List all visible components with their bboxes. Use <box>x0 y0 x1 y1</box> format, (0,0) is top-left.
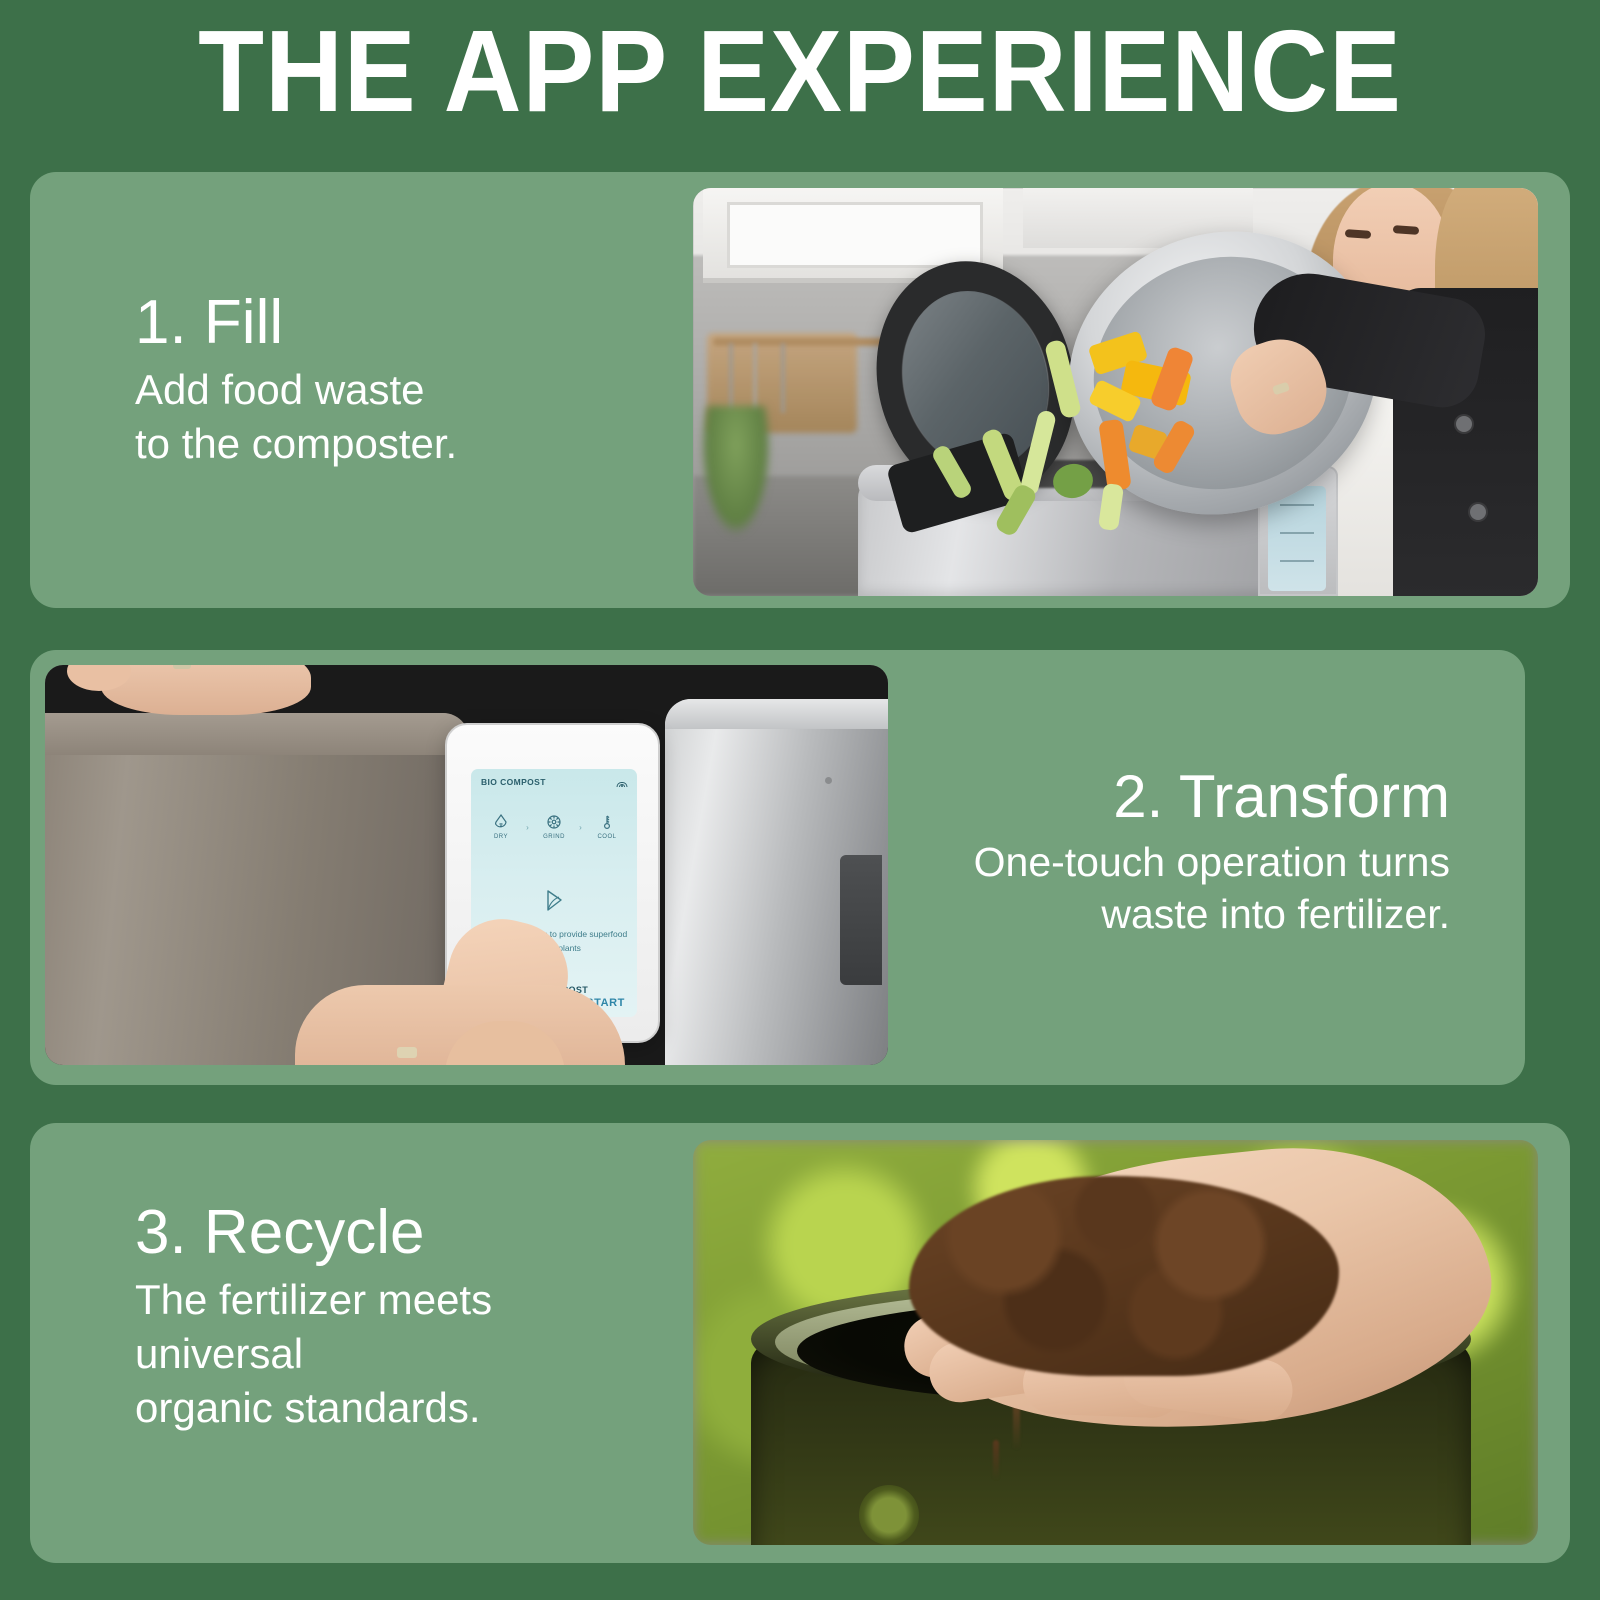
screen-line <box>1280 532 1314 534</box>
step-arrow: › <box>579 813 582 832</box>
screen-line <box>1280 560 1314 562</box>
step-text-recycle: 3. Recycle The fertilizer meets universa… <box>135 1200 665 1434</box>
step-text-transform: 2. Transform One-touch operation turns w… <box>870 765 1450 941</box>
cycle-step-grind[interactable]: GRIND <box>532 813 576 840</box>
woman-eye-right <box>1393 225 1419 235</box>
woman-eye-left <box>1345 229 1371 239</box>
composter-vent <box>840 855 882 985</box>
composter-screw <box>825 777 832 784</box>
page-title: THE APP EXPERIENCE <box>56 8 1544 136</box>
cycle-step-label-dry: DRY <box>479 834 523 840</box>
step-text-fill: 1. Fill Add food waste to the composter. <box>135 290 655 471</box>
infographic-page: THE APP EXPERIENCE 1. Fill Add food wast… <box>0 0 1600 1600</box>
cycle-step-cool[interactable]: COOL <box>585 813 629 840</box>
compost-soil <box>909 1176 1339 1376</box>
step-description-fill: Add food waste to the composter. <box>135 363 655 471</box>
dry-drop-icon <box>491 813 511 831</box>
step-photo-recycle <box>693 1140 1538 1545</box>
hanging-utensils <box>723 343 873 413</box>
cool-thermometer-icon <box>597 813 617 831</box>
step-title-transform: 2. Transform <box>870 765 1450 828</box>
wifi-icon <box>616 778 627 787</box>
leaf-play-icon <box>471 887 637 920</box>
lower-hand <box>295 985 625 1065</box>
step-description-recycle: The fertilizer meets universal organic s… <box>135 1273 665 1434</box>
lower-hand-ring <box>397 1047 417 1058</box>
step-description-transform: One-touch operation turns waste into fer… <box>870 836 1450 941</box>
cardigan-button <box>1456 416 1472 432</box>
kitchen-plant <box>701 406 771 536</box>
step-photo-fill <box>693 188 1538 596</box>
step-title-fill: 1. Fill <box>135 290 655 355</box>
step-photo-transform: BIO COMPOST DRY › <box>45 665 888 1065</box>
upper-hand-ring <box>173 665 191 669</box>
cycle-step-label-grind: GRIND <box>532 834 576 840</box>
cycle-step-row: DRY › GRIND › <box>479 813 629 840</box>
screen-header: BIO COMPOST <box>481 777 627 787</box>
cycle-step-label-cool: COOL <box>585 834 629 840</box>
composter-right-lid <box>665 699 888 729</box>
composter-left-lid <box>45 713 469 755</box>
screen-line <box>1280 504 1314 506</box>
step-title-recycle: 3. Recycle <box>135 1200 665 1265</box>
upper-hand <box>101 665 311 715</box>
screen-title: BIO COMPOST <box>481 777 546 787</box>
grind-blade-icon <box>544 813 564 831</box>
step-arrow: › <box>526 813 529 832</box>
bucket-latch <box>859 1485 919 1545</box>
cardigan-button <box>1470 504 1486 520</box>
cycle-step-dry[interactable]: DRY <box>479 813 523 840</box>
falling-compost <box>993 1440 999 1480</box>
